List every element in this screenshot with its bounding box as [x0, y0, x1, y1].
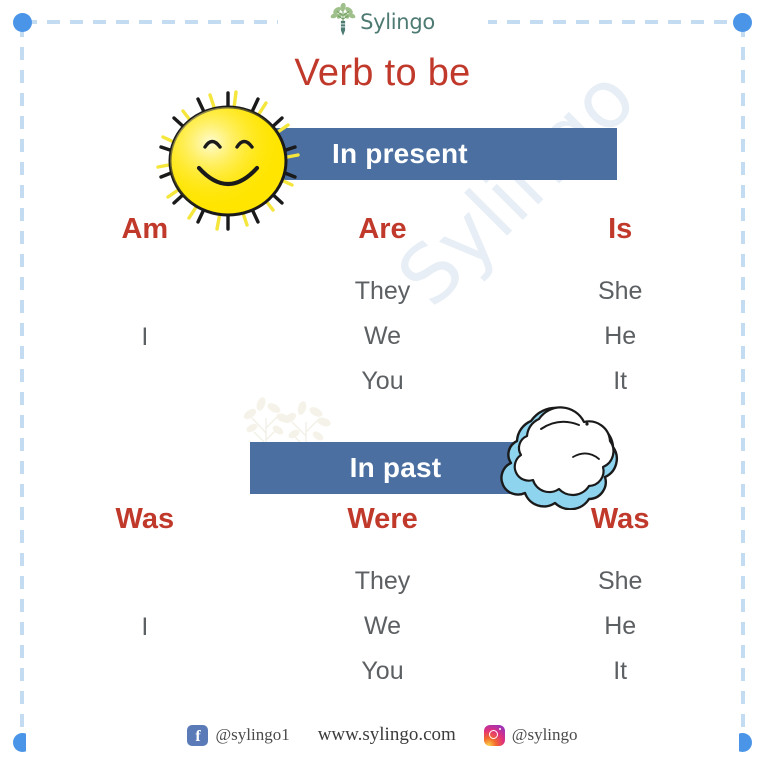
verb-label: Is: [501, 215, 739, 244]
sun-icon: [152, 85, 304, 233]
pronoun-list: She He It: [501, 275, 739, 398]
pronoun-item: They: [264, 565, 502, 598]
present-tense-banner: In present: [256, 128, 617, 180]
present-column-am: Am I: [26, 215, 264, 398]
past-column-were: Were They We You: [264, 505, 502, 688]
tree-pen-icon: [330, 3, 356, 42]
website-url: www.sylingo.com: [318, 724, 456, 746]
pronoun-item: She: [501, 275, 739, 308]
past-column-was-singular: Was I: [26, 505, 264, 688]
footer-bar: f @sylingo1 www.sylingo.com @sylingo: [26, 713, 739, 757]
present-tense-grid: Am I Are They We You Is She He It: [26, 215, 739, 398]
verb-label: Was: [26, 505, 264, 534]
pronoun-item: We: [264, 320, 502, 353]
page-title: Verb to be: [0, 52, 765, 95]
facebook-icon: f: [187, 725, 208, 746]
brand-logo-text: Sylingo: [360, 10, 435, 34]
pronoun-item: I: [26, 321, 264, 354]
pronoun-item: He: [501, 320, 739, 353]
website-link[interactable]: www.sylingo.com: [304, 724, 470, 746]
corner-dot-top-right: [733, 13, 752, 32]
pronoun-list: She He It: [501, 565, 739, 688]
pronoun-item: She: [501, 565, 739, 598]
facebook-handle: @sylingo1: [215, 725, 289, 745]
brand-logo: Sylingo: [278, 3, 488, 41]
past-column-was-third: Was She He It: [501, 505, 739, 688]
pronoun-item: They: [264, 275, 502, 308]
cloud-icon: [475, 405, 625, 510]
pronoun-item: It: [501, 365, 739, 398]
pronoun-item: You: [264, 655, 502, 688]
present-banner-label: In present: [332, 138, 468, 170]
corner-dot-top-left: [13, 13, 32, 32]
present-column-is: Is She He It: [501, 215, 739, 398]
pronoun-item: You: [264, 365, 502, 398]
facebook-link[interactable]: f @sylingo1: [173, 725, 303, 746]
present-column-are: Are They We You: [264, 215, 502, 398]
pronoun-list: They We You: [264, 565, 502, 688]
pronoun-item: I: [26, 611, 264, 644]
past-tense-grid: Was I Were They We You Was She He It: [26, 505, 739, 688]
pronoun-list: I: [26, 275, 264, 354]
pronoun-list: They We You: [264, 275, 502, 398]
instagram-icon: [484, 725, 505, 746]
pronoun-item: It: [501, 655, 739, 688]
pronoun-item: He: [501, 610, 739, 643]
past-banner-label: In past: [350, 452, 442, 484]
frame-border-left: [20, 24, 24, 741]
infographic-page: Sylingo: [0, 0, 765, 765]
frame-border-right: [741, 24, 745, 741]
pronoun-item: We: [264, 610, 502, 643]
instagram-handle: @sylingo: [512, 725, 578, 745]
verb-label: Were: [264, 505, 502, 534]
pronoun-list: I: [26, 565, 264, 644]
instagram-link[interactable]: @sylingo: [470, 725, 592, 746]
